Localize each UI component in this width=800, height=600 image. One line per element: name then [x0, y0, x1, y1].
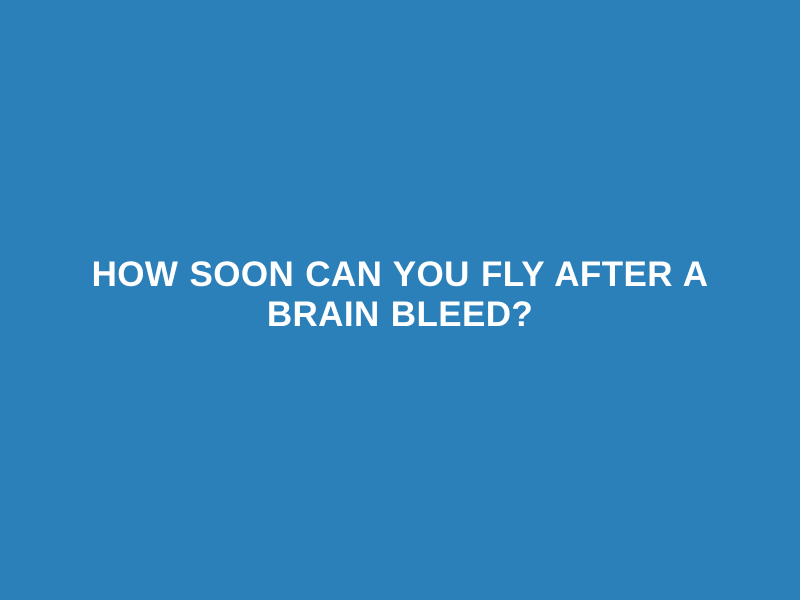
page-title: HOW SOON CAN YOU FLY AFTER A BRAIN BLEED… [55, 255, 745, 335]
article-header-banner: HOW SOON CAN YOU FLY AFTER A BRAIN BLEED… [0, 0, 800, 600]
title-block: HOW SOON CAN YOU FLY AFTER A BRAIN BLEED… [55, 255, 745, 335]
